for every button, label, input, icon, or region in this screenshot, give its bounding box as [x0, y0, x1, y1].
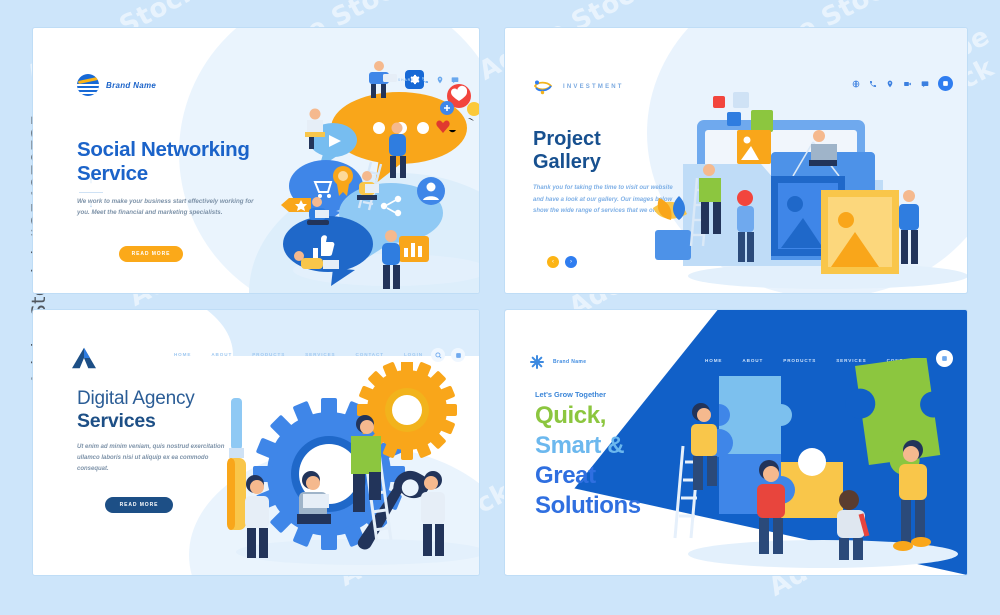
location-pin-icon[interactable]	[886, 80, 894, 88]
brand-name-label: Brand Name	[106, 81, 156, 90]
globe-icon[interactable]	[852, 80, 860, 88]
header-icon-group	[852, 76, 953, 91]
page-title-line3: Great	[535, 462, 596, 490]
menu-icon[interactable]	[451, 348, 465, 362]
nav-item-products[interactable]: PRODUCTS	[252, 352, 285, 357]
person-right	[899, 190, 919, 264]
divider	[79, 192, 103, 193]
fish-logo-icon	[533, 78, 553, 95]
nav-item-login[interactable]: LOGIN	[404, 352, 423, 357]
screenshot-canvas: Adobe Stock Adobe Stock Adobe Stock Adob…	[0, 0, 1000, 615]
read-more-button[interactable]: READ MORE	[105, 497, 173, 513]
screwdriver-icon	[227, 398, 246, 530]
social-speech-bubbles-illustration	[271, 58, 479, 293]
photo-gallery-folder-illustration	[653, 90, 967, 290]
page-title-line2: Smart &	[535, 432, 624, 460]
triangle-a-logo-icon[interactable]	[71, 346, 97, 370]
page-title-line4: Solutions	[535, 492, 641, 520]
brand-logo-group[interactable]: INVESTMENT	[533, 78, 624, 95]
landing-page-grow-together: Brand Name HOME ABOUT PRODUCTS SERVICES …	[505, 310, 967, 575]
landing-page-digital-agency: HOME ABOUT PRODUCTS SERVICES CONTACT LOG…	[33, 310, 479, 575]
page-title-line1: Quick,	[535, 402, 606, 430]
page-title-line2: Services	[77, 410, 156, 433]
puzzle-pieces-teamwork-illustration	[673, 358, 967, 573]
read-more-button[interactable]: READ MORE	[119, 246, 183, 262]
nav-item-about[interactable]: ABOUT	[211, 352, 232, 357]
phone-icon[interactable]	[869, 80, 877, 88]
landing-page-social-networking: Brand Name SHARE ↑ ↓ Social Networking S…	[33, 28, 479, 293]
gears-tools-illustration	[211, 362, 479, 567]
nav-item-contact[interactable]: CONTACT	[356, 352, 384, 357]
brand-name-label: INVESTMENT	[563, 84, 624, 90]
globe-logo-icon	[77, 74, 99, 96]
chat-icon[interactable]	[921, 80, 929, 88]
person-on-ladder-yellow	[691, 403, 717, 490]
video-icon[interactable]	[903, 80, 912, 88]
main-nav: HOME ABOUT PRODUCTS SERVICES CONTACT LOG…	[174, 352, 423, 357]
brand-name-label: Brand Name	[553, 359, 586, 365]
header-icon-group	[431, 348, 465, 362]
nav-item-services[interactable]: SERVICES	[305, 352, 335, 357]
page-title-line1: Digital Agency	[77, 388, 195, 410]
landing-page-project-gallery: INVESTMENT Project Gallery Thank you for…	[505, 28, 967, 293]
carousel-next-button[interactable]: ›	[565, 256, 577, 268]
page-subtitle: Let's Grow Together	[535, 390, 606, 399]
person-on-ladder	[357, 171, 379, 200]
brand-logo-group[interactable]: Brand Name	[77, 74, 156, 96]
page-description: We work to make your business start effe…	[77, 196, 257, 219]
page-description: Ut enim ad minim veniam, quis nostrud ex…	[77, 442, 227, 475]
carousel-controls: ‹ ›	[547, 256, 577, 268]
user-avatar-button[interactable]	[938, 76, 953, 91]
nav-item-home[interactable]: HOME	[174, 352, 191, 357]
brand-logo-group[interactable]: Brand Name	[529, 354, 586, 370]
snowflake-logo-icon	[529, 354, 545, 370]
search-icon[interactable]	[431, 348, 445, 362]
carousel-prev-button[interactable]: ‹	[547, 256, 559, 268]
